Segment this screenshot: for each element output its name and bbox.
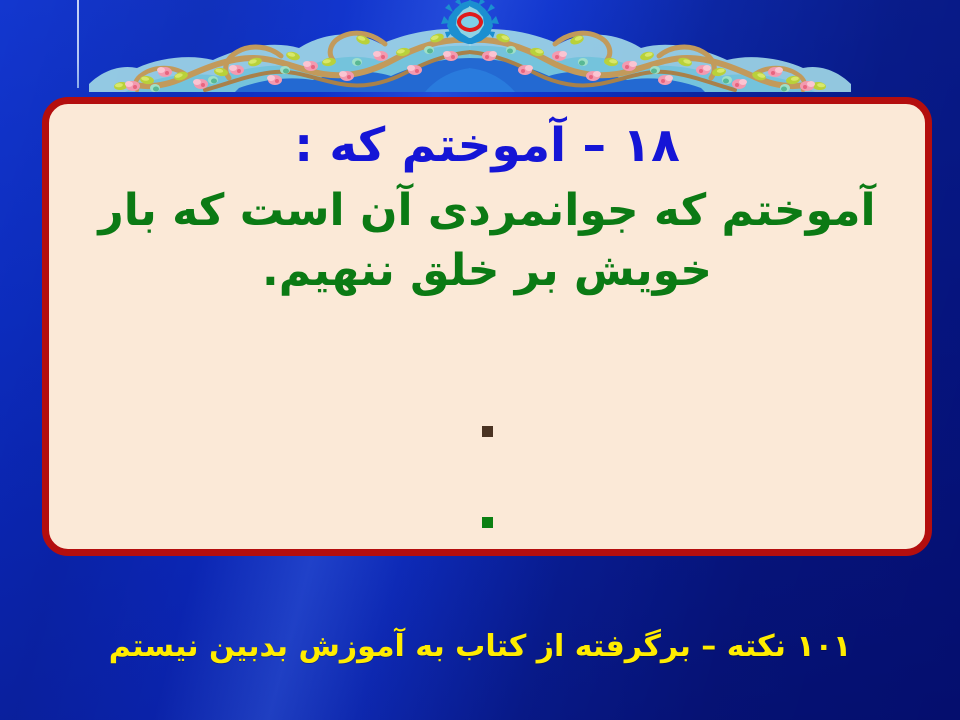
slide-title: ۱۸ – آموختم که : — [49, 104, 925, 173]
bullet-dot-list — [49, 422, 925, 604]
slide-body-text: آموختم که جوانمردی آن است که بار خویش بر… — [49, 173, 925, 300]
persian-floral-ornament-left — [85, 0, 471, 92]
vertical-hairline-accent — [77, 0, 79, 88]
content-card: ۱۸ – آموختم که : آموختم که جوانمردی آن ا… — [42, 97, 932, 556]
list-item — [49, 513, 925, 604]
list-item — [49, 422, 925, 513]
persian-floral-ornament-right — [469, 0, 855, 92]
square-dot-icon — [482, 517, 493, 528]
header-ornament-band — [0, 0, 960, 96]
square-dot-icon — [482, 426, 493, 437]
slide-footer-source: ۱۰۱ نکته – برگرفته از کتاب به آموزش بدبی… — [0, 628, 960, 666]
slide-canvas: ۱۸ – آموختم که : آموختم که جوانمردی آن ا… — [0, 0, 960, 720]
